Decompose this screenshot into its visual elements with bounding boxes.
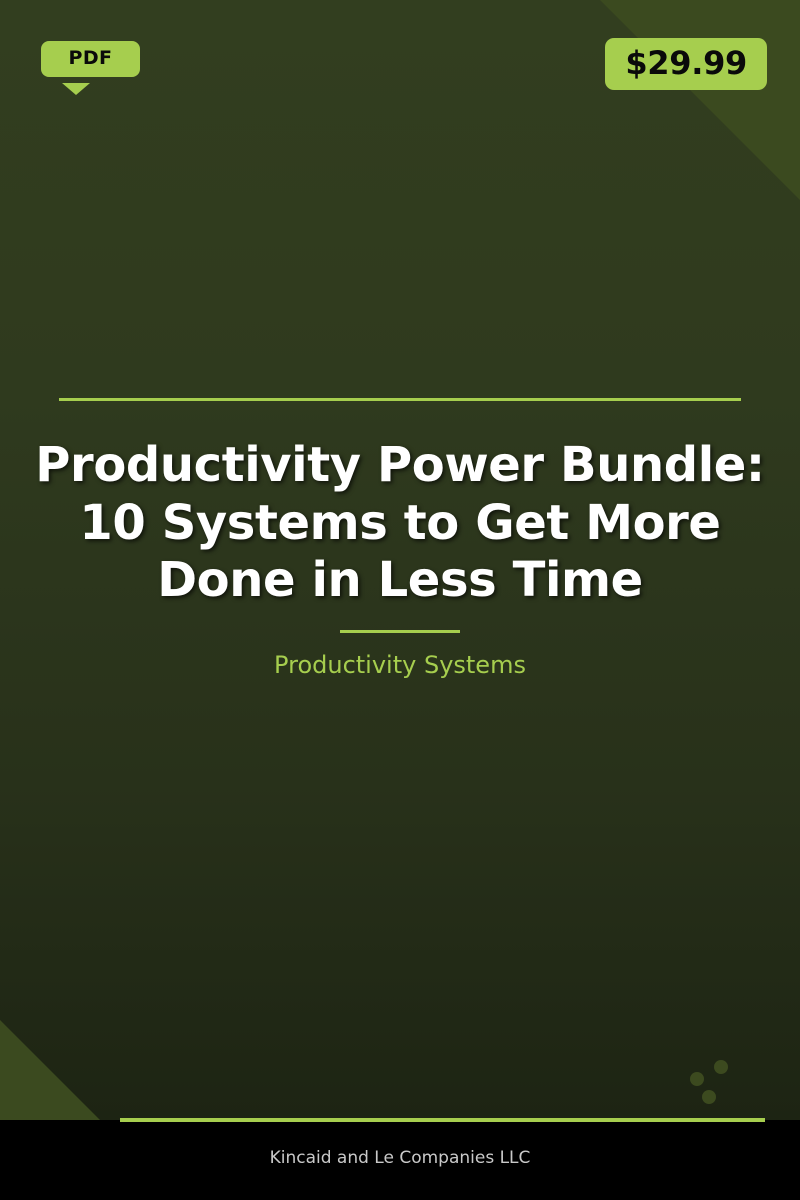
ebook-cover: PDF $29.99 Productivity Power Bundle: 10…: [0, 0, 800, 1200]
decor-dot: [714, 1060, 728, 1074]
decor-wedge-top-right: [600, 0, 800, 200]
page-subtitle: Productivity Systems: [0, 651, 800, 680]
page-title: Productivity Power Bundle: 10 Systems to…: [30, 437, 770, 610]
format-badge[interactable]: PDF: [41, 41, 140, 77]
format-badge-body: PDF: [41, 41, 140, 77]
price-badge[interactable]: $29.99: [605, 38, 767, 90]
decor-dot: [702, 1090, 716, 1104]
footer-divider: [120, 1118, 765, 1122]
dot-cluster-decoration: [688, 1058, 734, 1108]
cover-body: PDF $29.99 Productivity Power Bundle: 10…: [0, 0, 800, 1120]
format-badge-label: PDF: [63, 49, 118, 68]
title-divider-bottom: [340, 630, 460, 633]
decor-wedge-bottom-left: [0, 1020, 100, 1120]
title-divider-top: [59, 398, 741, 401]
title-block: Productivity Power Bundle: 10 Systems to…: [0, 380, 800, 680]
footer: Kincaid and Le Companies LLC: [0, 1122, 800, 1200]
decor-dot: [690, 1072, 704, 1086]
price-badge-label: $29.99: [625, 47, 747, 79]
publisher-name: Kincaid and Le Companies LLC: [270, 1148, 531, 1174]
format-badge-notch-icon: [62, 83, 90, 95]
